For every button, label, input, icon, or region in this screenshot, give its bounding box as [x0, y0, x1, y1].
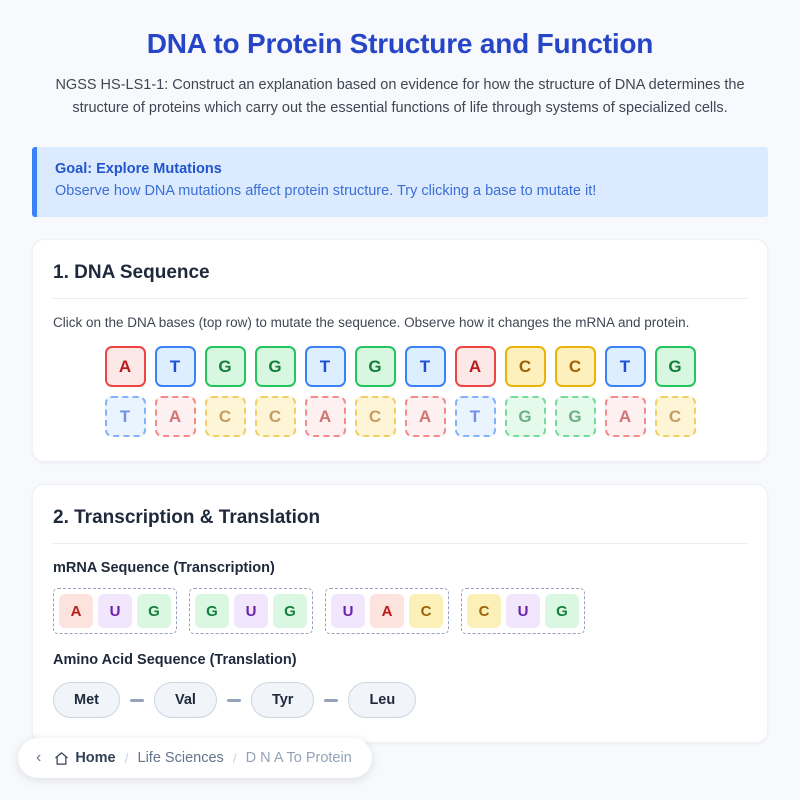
- transcription-section-heading: 2. Transcription & Translation: [53, 507, 747, 543]
- section-divider: [53, 298, 747, 299]
- protein-label: Amino Acid Sequence (Translation): [53, 652, 747, 668]
- standard-description: NGSS HS-LS1-1: Construct an explanation …: [32, 74, 768, 120]
- dna-base-coding-8[interactable]: C: [505, 346, 546, 387]
- dna-base-template-4: A: [305, 396, 346, 437]
- dna-base-coding-10[interactable]: T: [605, 346, 646, 387]
- dna-base-template-6: A: [405, 396, 446, 437]
- section-divider: [53, 543, 747, 544]
- dna-coding-strand: ATGGTGTACCTG: [53, 346, 747, 387]
- dna-base-template-1: A: [155, 396, 196, 437]
- dna-base-coding-3[interactable]: G: [255, 346, 296, 387]
- dna-base-template-3: C: [255, 396, 296, 437]
- breadcrumb-category-link[interactable]: Life Sciences: [138, 750, 224, 766]
- dna-base-coding-7[interactable]: A: [455, 346, 496, 387]
- dna-template-strand: TACCACATGGAC: [53, 396, 747, 437]
- dna-base-coding-0[interactable]: A: [105, 346, 146, 387]
- dna-base-coding-11[interactable]: G: [655, 346, 696, 387]
- dna-base-coding-6[interactable]: T: [405, 346, 446, 387]
- mrna-codon-row: AUGGUGUACCUG: [53, 588, 747, 634]
- amino-acid-3: Leu: [348, 682, 416, 718]
- page-content: DNA to Protein Structure and Function NG…: [0, 0, 800, 743]
- amino-acid-1: Val: [154, 682, 217, 718]
- mrna-codon-3: CUG: [461, 588, 585, 634]
- mrna-base-2-0: U: [331, 594, 365, 628]
- mrna-base-1-2: G: [273, 594, 307, 628]
- dna-base-template-10: A: [605, 396, 646, 437]
- mrna-label: mRNA Sequence (Transcription): [53, 560, 747, 576]
- breadcrumb: ‹ Home / Life Sciences / D N A To Protei…: [18, 738, 372, 778]
- amino-acid-0: Met: [53, 682, 120, 718]
- amino-acid-row: MetValTyrLeu: [53, 682, 747, 718]
- dna-base-template-7: T: [455, 396, 496, 437]
- mrna-base-3-0: C: [467, 594, 501, 628]
- mrna-base-1-1: U: [234, 594, 268, 628]
- peptide-bond-dash-3: [324, 699, 338, 702]
- mrna-base-0-2: G: [137, 594, 171, 628]
- dna-base-template-2: C: [205, 396, 246, 437]
- dna-section-hint: Click on the DNA bases (top row) to muta…: [53, 315, 747, 330]
- breadcrumb-home-link[interactable]: Home: [54, 750, 115, 766]
- dna-base-template-5: C: [355, 396, 396, 437]
- dna-base-coding-4[interactable]: T: [305, 346, 346, 387]
- mrna-codon-1: GUG: [189, 588, 313, 634]
- mrna-base-0-0: A: [59, 594, 93, 628]
- mrna-base-1-0: G: [195, 594, 229, 628]
- peptide-bond-dash-2: [227, 699, 241, 702]
- mrna-base-2-1: A: [370, 594, 404, 628]
- mrna-base-0-1: U: [98, 594, 132, 628]
- dna-sequence-card: 1. DNA Sequence Click on the DNA bases (…: [32, 239, 768, 462]
- breadcrumb-current-page: D N A To Protein: [246, 750, 352, 766]
- dna-section-heading: 1. DNA Sequence: [53, 262, 747, 298]
- dna-base-template-8: G: [505, 396, 546, 437]
- mrna-base-3-1: U: [506, 594, 540, 628]
- goal-banner: Goal: Explore Mutations Observe how DNA …: [32, 147, 768, 217]
- goal-text: Observe how DNA mutations affect protein…: [55, 181, 750, 201]
- page-title: DNA to Protein Structure and Function: [32, 28, 768, 60]
- breadcrumb-home-label: Home: [75, 750, 115, 766]
- dna-base-coding-9[interactable]: C: [555, 346, 596, 387]
- mrna-base-3-2: G: [545, 594, 579, 628]
- transcription-translation-card: 2. Transcription & Translation mRNA Sequ…: [32, 484, 768, 743]
- dna-base-coding-2[interactable]: G: [205, 346, 246, 387]
- dna-base-template-11: C: [655, 396, 696, 437]
- dna-base-coding-5[interactable]: G: [355, 346, 396, 387]
- goal-title: Goal: Explore Mutations: [55, 161, 750, 177]
- dna-base-template-0: T: [105, 396, 146, 437]
- home-icon: [54, 751, 69, 766]
- peptide-bond-dash-1: [130, 699, 144, 702]
- amino-acid-2: Tyr: [251, 682, 315, 718]
- mrna-codon-0: AUG: [53, 588, 177, 634]
- breadcrumb-separator: /: [233, 750, 237, 766]
- mrna-base-2-2: C: [409, 594, 443, 628]
- dna-base-template-9: G: [555, 396, 596, 437]
- mrna-codon-2: UAC: [325, 588, 449, 634]
- breadcrumb-separator: /: [125, 750, 129, 766]
- dna-base-coding-1[interactable]: T: [155, 346, 196, 387]
- chevron-left-icon[interactable]: ‹: [32, 750, 45, 766]
